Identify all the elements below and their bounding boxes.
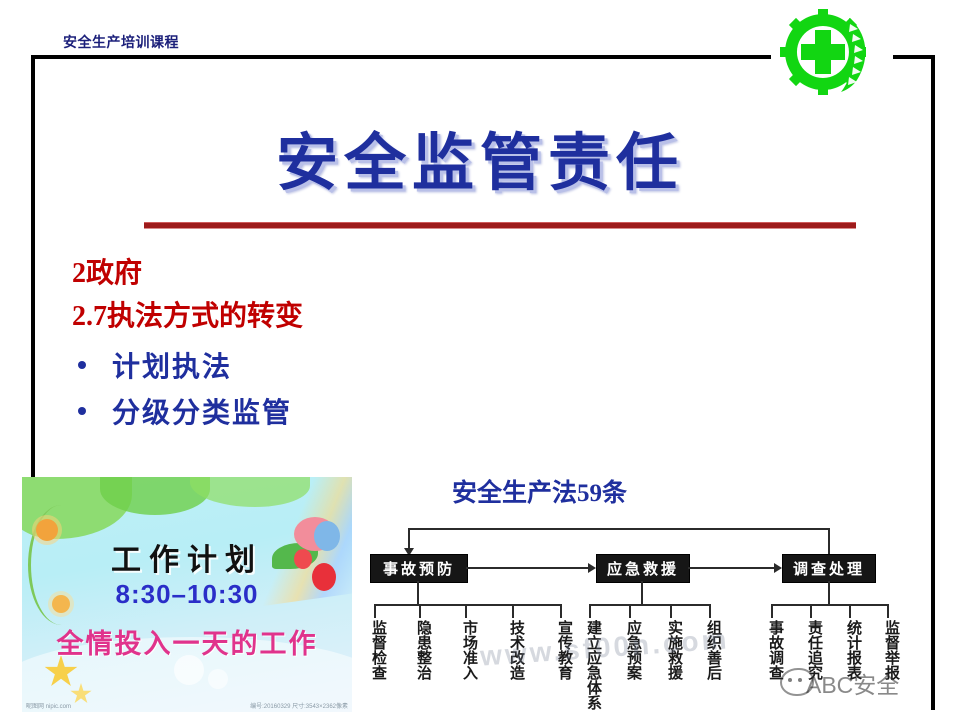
photo-title: 工作计划 — [22, 535, 352, 579]
content-block: 2政府 2.7执法方式的转变 计划执法 分级分类监管 — [72, 252, 592, 431]
branch-drop-1-2 — [419, 604, 421, 618]
loop-line-horizontal — [408, 528, 830, 530]
photo-credit-right: 编号:20160329 尺寸:3543×2362像素 — [250, 701, 348, 710]
list-item: 分级分类监管 — [72, 391, 592, 431]
bullet-dot-icon — [78, 361, 86, 369]
leaf-label-1-3: 市场准入 — [457, 620, 476, 680]
bullet-label: 计划执法 — [112, 345, 232, 385]
frame-border-top-right — [893, 55, 935, 59]
branch-bus-group-2 — [589, 604, 711, 606]
loop-line-right-up — [828, 528, 830, 554]
connector-arrowhead-2 — [774, 563, 782, 573]
connector-2-to-3 — [688, 567, 774, 569]
branch-drop-2-1 — [589, 604, 591, 618]
diagram-title: 安全生产法59条 — [452, 473, 627, 509]
course-label: 安全生产培训课程 — [63, 32, 179, 52]
branch-drop-2-4 — [709, 604, 711, 618]
trunk-line-group-2 — [641, 581, 643, 605]
branch-drop-3-3 — [849, 604, 851, 618]
branch-drop-3-4 — [887, 604, 889, 618]
branch-drop-3-1 — [771, 604, 773, 618]
connector-arrowhead-1 — [588, 563, 596, 573]
bullet-label: 分级分类监管 — [112, 391, 292, 431]
branch-drop-2-2 — [629, 604, 631, 618]
photo-credit-left: 昵图网 nipic.com — [26, 701, 71, 710]
brand-watermark: ABC安全 — [806, 666, 899, 700]
photo-slogan: 全情投入一天的工作 — [22, 622, 352, 661]
leaf-label-1-1: 监督检查 — [366, 620, 385, 680]
branch-drop-1-5 — [560, 604, 562, 618]
branch-bus-group-3 — [771, 604, 889, 606]
branch-drop-1-4 — [512, 604, 514, 618]
photo-time: 8:30–10:30 — [22, 579, 352, 610]
connector-1-to-2 — [466, 567, 588, 569]
branch-drop-3-2 — [810, 604, 812, 618]
process-box-accident-prevention: 事故预防 — [370, 554, 468, 583]
safety-gear-cross-logo — [779, 8, 875, 104]
trunk-line-group-1 — [417, 581, 419, 605]
title-divider — [144, 222, 856, 229]
branch-drop-1-3 — [465, 604, 467, 618]
list-item: 计划执法 — [72, 345, 592, 385]
leaf-label-3-1: 事故调查 — [763, 620, 782, 680]
branch-drop-1-1 — [374, 604, 376, 618]
process-box-label: 事故预防 — [383, 558, 455, 579]
section-heading-1: 2政府 — [72, 252, 592, 295]
work-plan-image: 工作计划 8:30–10:30 全情投入一天的工作 昵图网 nipic.com … — [22, 477, 352, 712]
branch-bus-group-1 — [374, 604, 562, 606]
bubble-decoration — [208, 669, 228, 689]
process-box-label: 调查处理 — [793, 558, 865, 579]
branch-drop-2-3 — [670, 604, 672, 618]
loop-line-left-down — [408, 528, 410, 550]
process-box-investigation: 调查处理 — [782, 554, 876, 583]
trunk-line-group-3 — [828, 581, 830, 605]
frame-border-top-left — [31, 55, 771, 59]
process-box-emergency-rescue: 应急救援 — [596, 554, 690, 583]
section-heading-2: 2.7执法方式的转变 — [72, 295, 592, 338]
leaf-label-1-2: 隐患整治 — [411, 620, 430, 680]
bullet-dot-icon — [78, 407, 86, 415]
process-box-label: 应急救援 — [607, 558, 679, 579]
page-title: 安全监管责任 — [0, 112, 960, 202]
